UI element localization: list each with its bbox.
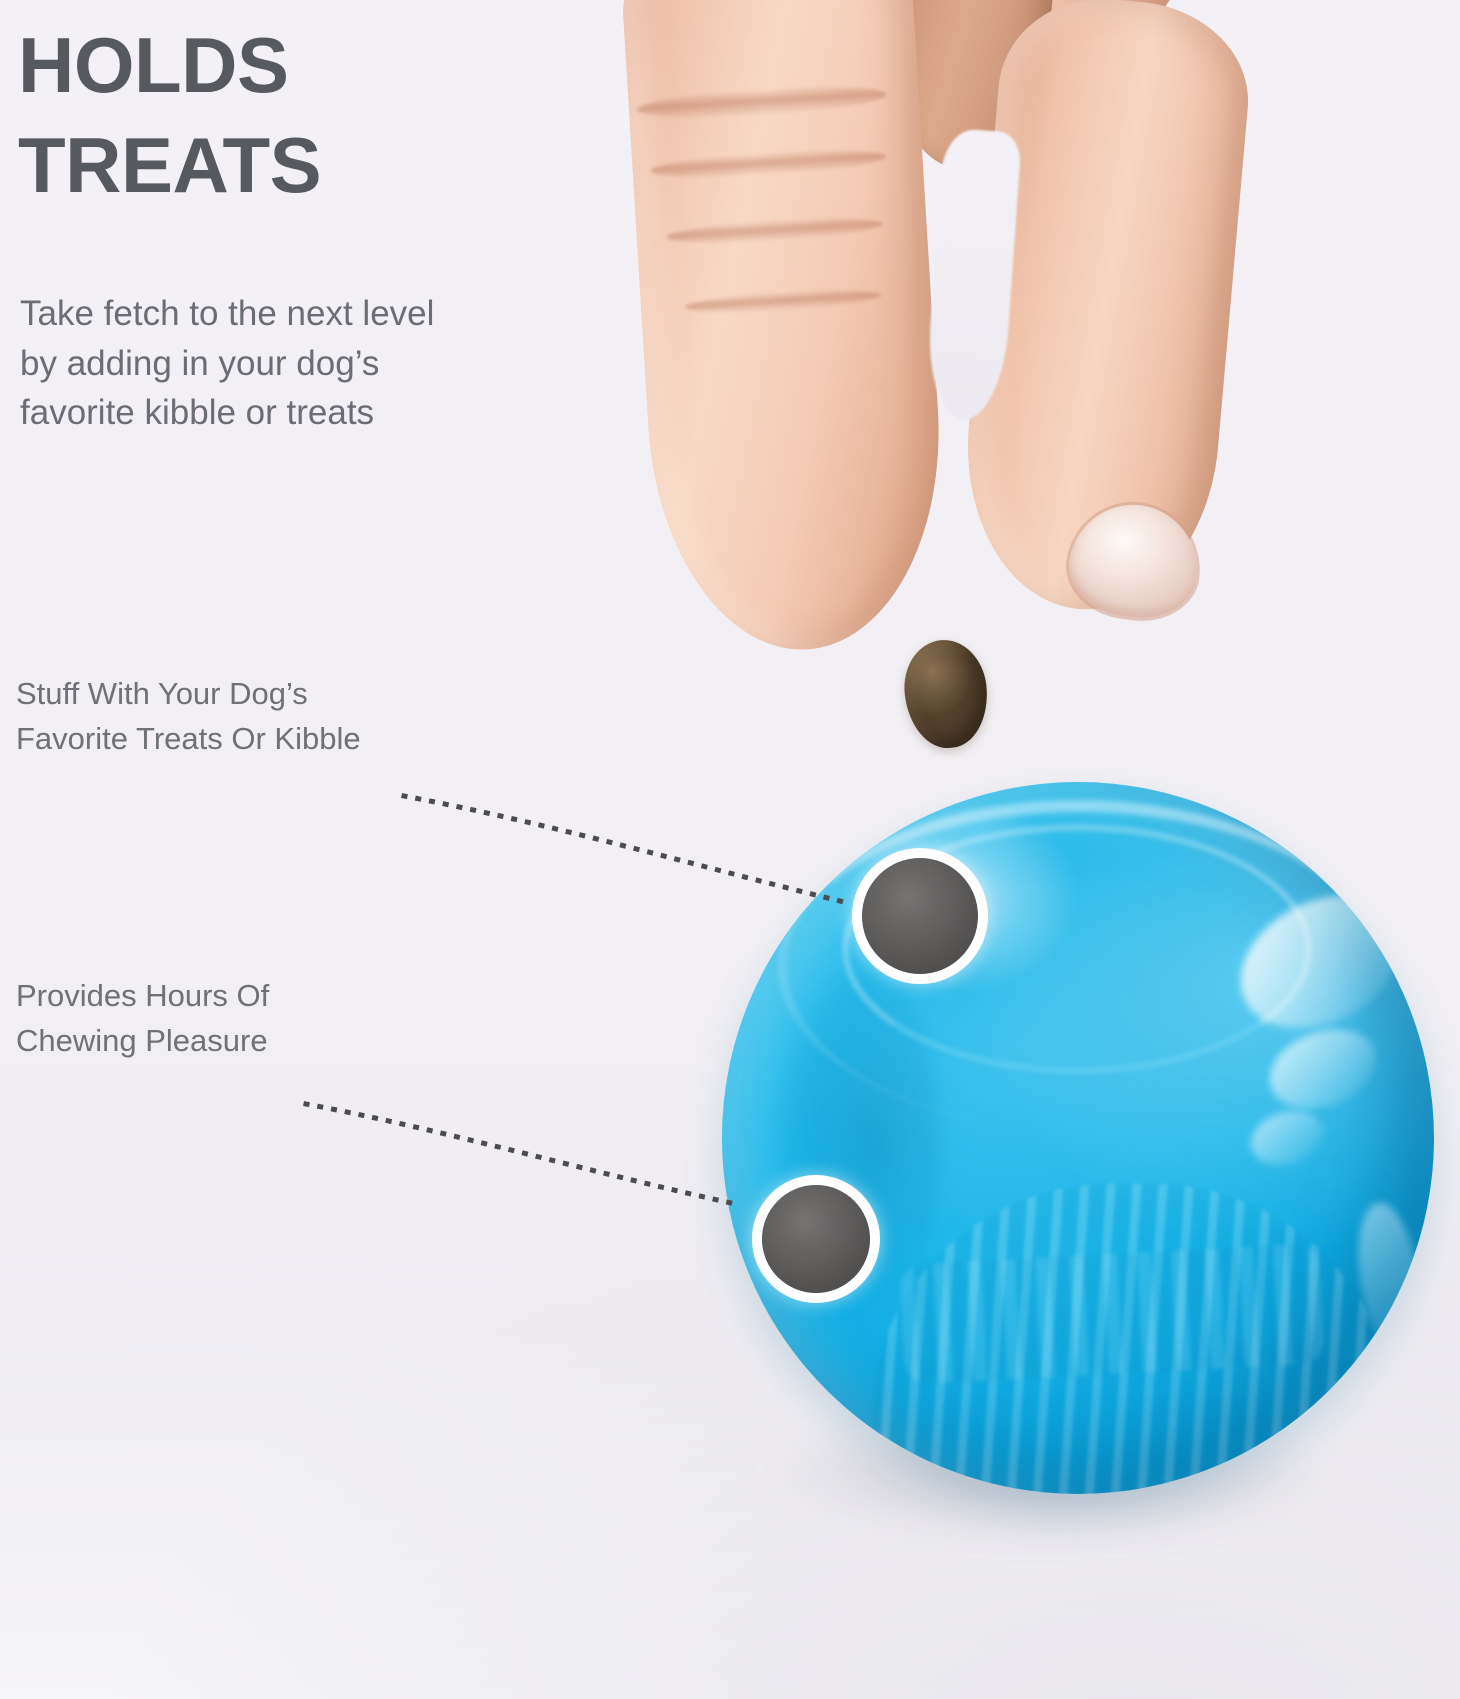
- subcopy-line-2: by adding in your dog’s: [20, 339, 590, 389]
- finger-crease: [650, 146, 887, 182]
- index-finger: [618, 0, 952, 658]
- callout-1-line-2: Favorite Treats Or Kibble: [16, 717, 556, 762]
- headline-line-1: HOLDS: [18, 16, 618, 116]
- callout-1-line-1: Stuff With Your Dog’s: [16, 672, 556, 717]
- finger-crease: [636, 81, 887, 122]
- subcopy-line-3: favorite kibble or treats: [20, 388, 590, 438]
- hand-pinching-treat-icon: [600, 0, 1220, 770]
- headline-line-2: TREATS: [18, 116, 618, 216]
- callout-2-line-2: Chewing Pleasure: [16, 1019, 496, 1064]
- product-photo: [0, 0, 1460, 1699]
- finger-crease: [685, 286, 882, 316]
- product-feature-graphic: HOLDS TREATS Take fetch to the next leve…: [0, 0, 1460, 1699]
- finger-crease: [666, 214, 883, 247]
- top-hole-marker: [862, 858, 978, 974]
- callout-stuff-with-treats: Stuff With Your Dog’s Favorite Treats Or…: [16, 672, 556, 761]
- leader-line-to-bottom-hole: [306, 1098, 736, 1158]
- callout-2-line-1: Provides Hours Of: [16, 974, 496, 1019]
- page-title: HOLDS TREATS: [18, 16, 618, 216]
- subheading-copy: Take fetch to the next level by adding i…: [20, 289, 590, 438]
- subcopy-line-1: Take fetch to the next level: [20, 289, 590, 339]
- callout-hours-of-chewing: Provides Hours Of Chewing Pleasure: [16, 974, 496, 1063]
- bottom-hole-marker: [762, 1185, 870, 1293]
- ball-embossed-logo: [899, 1243, 1325, 1385]
- leader-line-to-top-hole: [404, 790, 844, 850]
- ball-specular-highlight: [1244, 1102, 1330, 1174]
